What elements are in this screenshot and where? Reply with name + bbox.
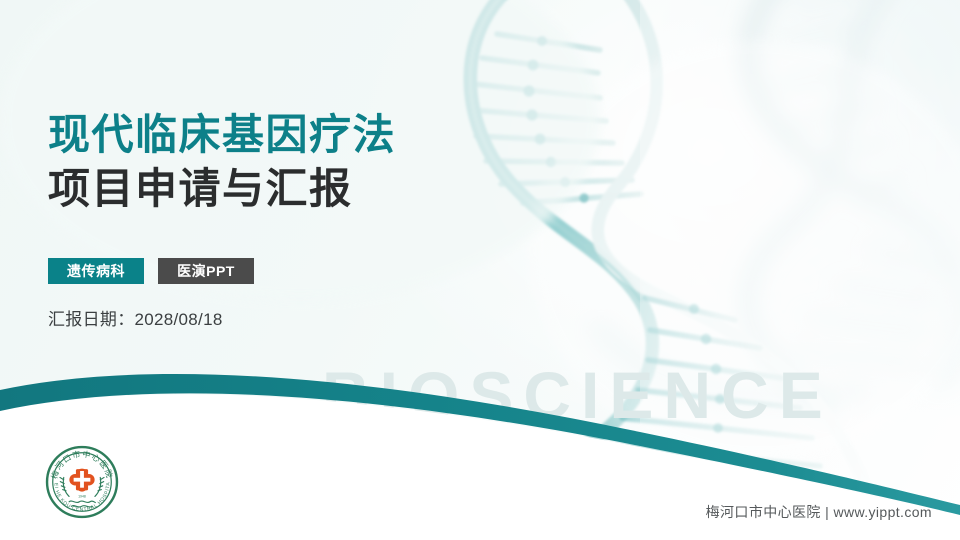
title-line-primary: 现代临床基因疗法 — [48, 108, 518, 162]
presentation-title-slide: BIOSCIENCE 现代临床基因疗法 项目申请与汇报 遗传病科 医演PPT — [0, 0, 960, 540]
badge-template-brand[interactable]: 医演PPT — [158, 258, 254, 284]
hospital-logo: 梅河口市中心医院 MEI HE KOU CENTRAL HOSPITAL — [44, 444, 120, 520]
badge-department[interactable]: 遗传病科 — [48, 258, 144, 284]
bioscience-watermark: BIOSCIENCE — [322, 362, 833, 428]
title-block: 现代临床基因疗法 项目申请与汇报 — [48, 108, 518, 216]
logo-year: 1948 — [78, 495, 86, 499]
report-date: 汇报日期：2028/08/18 — [48, 305, 223, 330]
hospital-logo-icon: 梅河口市中心医院 MEI HE KOU CENTRAL HOSPITAL — [44, 444, 120, 520]
title-line-secondary: 项目申请与汇报 — [48, 162, 518, 216]
footer-credit: 梅河口市中心医院 | www.yippt.com — [706, 502, 932, 522]
badge-row: 遗传病科 医演PPT — [48, 258, 254, 284]
